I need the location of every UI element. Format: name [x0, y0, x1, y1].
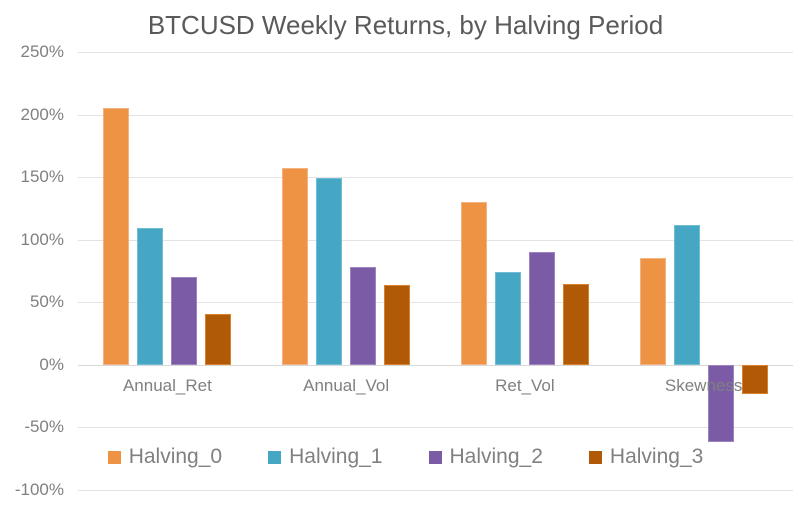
- chart-container: BTCUSD Weekly Returns, by Halving Period…: [0, 0, 811, 509]
- legend-label: Halving_0: [129, 445, 222, 469]
- bar-halving_3-annual_ret[interactable]: [205, 314, 231, 365]
- plot-area: [78, 52, 793, 490]
- legend-item-halving_1[interactable]: Halving_1: [268, 445, 382, 469]
- legend-label: Halving_1: [289, 445, 382, 469]
- bars-layer: [78, 52, 793, 490]
- bar-halving_2-annual_ret[interactable]: [171, 277, 197, 365]
- bar-halving_0-annual_vol[interactable]: [282, 168, 308, 364]
- chart-legend: Halving_0Halving_1Halving_2Halving_3: [0, 440, 811, 474]
- legend-item-halving_3[interactable]: Halving_3: [589, 445, 703, 469]
- bar-halving_1-skewness[interactable]: [674, 225, 700, 365]
- y-axis-tick-label: -100%: [15, 480, 64, 500]
- legend-item-halving_0[interactable]: Halving_0: [108, 445, 222, 469]
- bar-halving_0-skewness[interactable]: [640, 258, 666, 364]
- gridline: [78, 490, 793, 491]
- x-axis-tick-label: Skewness: [665, 376, 742, 396]
- y-axis-tick-label: 100%: [21, 230, 64, 250]
- bar-halving_0-ret_vol[interactable]: [461, 202, 487, 365]
- x-axis-labels: Annual_RetAnnual_VolRet_VolSkewness: [78, 376, 793, 404]
- legend-label: Halving_3: [610, 445, 703, 469]
- y-axis-tick-label: 50%: [30, 292, 64, 312]
- bar-halving_1-annual_vol[interactable]: [316, 178, 342, 364]
- bar-halving_2-annual_vol[interactable]: [350, 267, 376, 365]
- y-axis-tick-label: 0%: [39, 355, 64, 375]
- y-axis-tick-label: 200%: [21, 105, 64, 125]
- chart-title: BTCUSD Weekly Returns, by Halving Period: [0, 10, 811, 41]
- bar-halving_1-ret_vol[interactable]: [495, 272, 521, 365]
- y-axis-tick-label: -50%: [24, 417, 64, 437]
- bar-halving_1-annual_ret[interactable]: [137, 228, 163, 364]
- x-axis-tick-label: Annual_Vol: [303, 376, 389, 396]
- y-axis-labels: 250%200%150%100%50%0%-50%-100%: [0, 52, 74, 490]
- legend-swatch-icon: [268, 451, 281, 464]
- legend-swatch-icon: [429, 451, 442, 464]
- y-axis-tick-label: 250%: [21, 42, 64, 62]
- legend-item-halving_2[interactable]: Halving_2: [429, 445, 543, 469]
- y-axis-tick-label: 150%: [21, 167, 64, 187]
- bar-halving_0-annual_ret[interactable]: [103, 108, 129, 365]
- bar-halving_3-annual_vol[interactable]: [384, 285, 410, 365]
- legend-swatch-icon: [108, 451, 121, 464]
- x-axis-tick-label: Ret_Vol: [495, 376, 555, 396]
- bar-halving_3-ret_vol[interactable]: [563, 284, 589, 365]
- legend-swatch-icon: [589, 451, 602, 464]
- bar-halving_2-ret_vol[interactable]: [529, 252, 555, 365]
- x-axis-tick-label: Annual_Ret: [123, 376, 212, 396]
- legend-label: Halving_2: [450, 445, 543, 469]
